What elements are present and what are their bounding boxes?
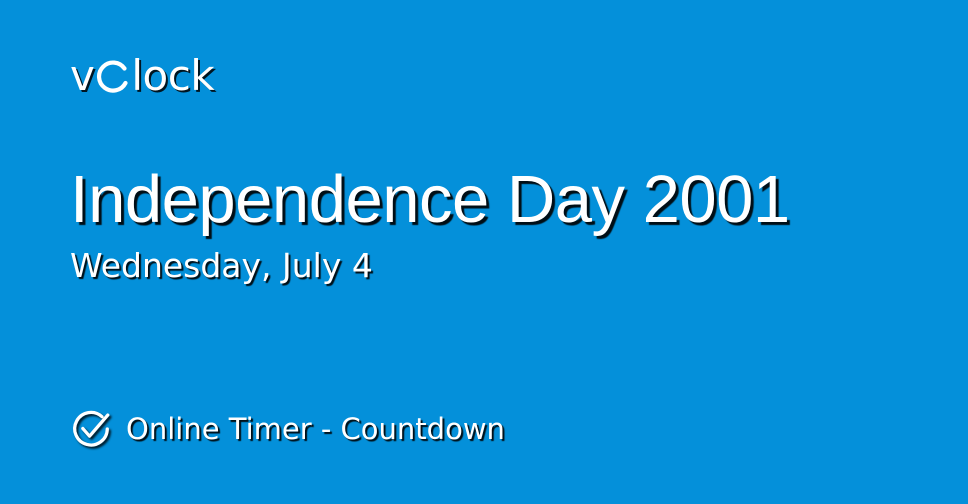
open-clock-circle-icon	[94, 55, 130, 97]
vclock-holiday-card: v lock Independence Day 2001 Wednesday, …	[0, 0, 968, 504]
page-subtitle: Wednesday, July 4	[70, 249, 930, 284]
brand-logo-suffix: lock	[131, 55, 214, 97]
circle-check-timer-icon	[68, 406, 114, 452]
online-timer-countdown-link[interactable]: Online Timer - Countdown	[68, 406, 505, 452]
online-timer-countdown-label: Online Timer - Countdown	[126, 415, 505, 444]
brand-logo[interactable]: v lock	[70, 52, 214, 100]
page-title: Independence Day 2001	[70, 166, 930, 233]
headline-block: Independence Day 2001 Wednesday, July 4	[70, 166, 930, 284]
brand-logo-prefix: v	[70, 55, 94, 97]
brand-logo-text: v lock	[70, 55, 214, 97]
